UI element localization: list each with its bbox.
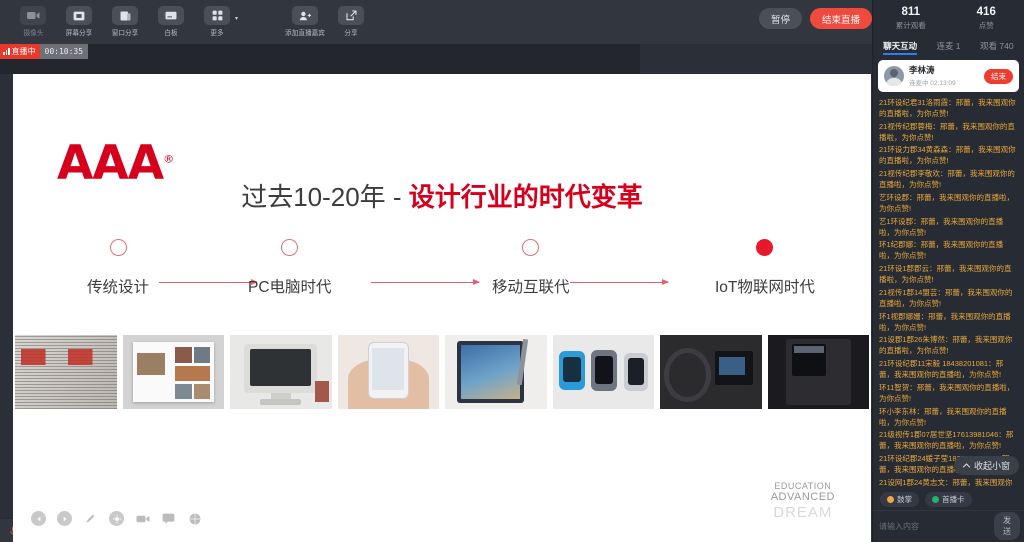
live-status-badge: 直播中 00:10:35 — [0, 44, 88, 59]
stat-total-views: 811 累计观看 — [873, 6, 949, 32]
chat-message: 21设郡1郡26朱博然：邢蕾，我来围观你的直播啦，为你点赞! — [879, 335, 1018, 357]
timeline-arrow-2 — [371, 282, 479, 283]
timeline-graphic: 传统设计 PC电脑时代 移动互联代 IoT物联网时代 — [13, 239, 871, 344]
chat-message: 21设网1郡24黄志文：邢蕾，我来围观你的直播啦，为你点赞! — [879, 478, 1018, 488]
quick-applause-button[interactable]: 鼓掌 — [880, 492, 919, 507]
thumbnail-newspapers — [15, 335, 117, 409]
live-timer: 00:10:35 — [40, 44, 89, 59]
chat-message: 21视传纪郡蓉梅：邢蕾，我来围观你的直播啦，为你点赞! — [879, 122, 1018, 144]
toolbar-left-group: 摄像头 屏幕分享 窗口分享 白板 — [10, 6, 374, 38]
comment-button[interactable] — [161, 511, 176, 526]
chat-message: 环小李东林：邢蕾，我来围观你的直播啦，为你点赞! — [879, 407, 1018, 429]
end-broadcast-button[interactable]: 结束直播 — [810, 8, 872, 29]
quick-applause-label: 鼓掌 — [897, 494, 912, 505]
chevron-down-icon[interactable]: ▾ — [235, 15, 238, 22]
chat-message: 环1纪郡娜：邢蕾，我来围观你的直播啦，为你点赞! — [879, 240, 1018, 262]
toolbar-share-button[interactable]: 分享 — [328, 6, 374, 38]
top-toolbar: 摄像头 屏幕分享 窗口分享 白板 — [0, 0, 1024, 44]
thumbnail-smartwatches — [553, 335, 655, 409]
toolbar-right-actions: 暂停 结束直播 — [759, 8, 872, 29]
chevron-up-icon — [963, 463, 970, 468]
pause-broadcast-button[interactable]: 暂停 — [759, 8, 802, 29]
stat-likes-value: 416 — [949, 6, 1024, 19]
add-guest-icon — [292, 6, 318, 25]
live-label: 直播中 — [12, 46, 36, 57]
chat-message-list[interactable]: 21环设纪君31洛雨霞：邢蕾，我来围观你的直播啦，为你点赞! 21视传纪郡蓉梅：… — [873, 96, 1024, 488]
video-button[interactable] — [135, 511, 150, 526]
quick-card-button[interactable]: 首播卡 — [925, 492, 972, 507]
camera-icon — [20, 6, 46, 25]
timeline-dot-1 — [110, 239, 127, 256]
timeline-dot-2 — [281, 239, 298, 256]
guest-card[interactable]: 李林涛 连麦中 02:13:09 结束 — [878, 60, 1019, 92]
slide-title-plain: 过去10-20年 - — [241, 182, 409, 212]
thumbnail-tablet-with-stylus — [445, 335, 547, 409]
applause-dot-icon — [887, 496, 894, 503]
toolbar-window-share-label: 窗口分享 — [112, 28, 139, 38]
watermark-line-1: EDUCATION — [771, 481, 835, 491]
stage-area: 直播中 00:10:35 AAA® 过去10-20年 - 设计行业的时代变革 传… — [0, 44, 1024, 518]
toolbar-camera-label: 摄像头 — [23, 28, 43, 38]
timeline-arrow-3 — [570, 282, 668, 283]
slide-watermark: EDUCATION ADVANCED DREAM — [771, 481, 835, 521]
live-broadcast-window: 摄像头 屏幕分享 窗口分享 白板 — [0, 0, 1024, 542]
collapse-pip-button[interactable]: 收起小窗 — [954, 456, 1019, 475]
live-indicator: 直播中 — [0, 44, 40, 59]
window-share-icon — [112, 6, 138, 25]
toolbar-add-guest-button[interactable]: 添加直播嘉宾 — [282, 6, 328, 38]
toolbar-whiteboard-label: 白板 — [164, 28, 177, 38]
shared-slide[interactable]: AAA® 过去10-20年 - 设计行业的时代变革 传统设计 PC电脑时代 — [13, 74, 871, 542]
end-guest-button[interactable]: 结束 — [984, 69, 1013, 84]
chat-message: 21环设力郡34黄森森：邢蕾，我来围观你的直播啦，为你点赞! — [879, 145, 1018, 167]
chat-message: 艺1环设郡：邢蕾，我来围观你的直播啦，为你点赞! — [879, 217, 1018, 239]
toolbar-more-button[interactable]: ▾ 更多 — [194, 6, 240, 38]
timeline-node-3: 移动互联代 — [492, 239, 570, 297]
timeline-dot-4 — [756, 239, 773, 256]
slide-title-accent: 设计行业的时代变革 — [409, 182, 643, 212]
timeline-label-4: IoT物联网时代 — [715, 275, 815, 297]
chat-message: 21视传纪郡李敬欢：邢蕾，我来围观你的直播啦，为你点赞! — [879, 169, 1018, 191]
laser-pointer-button[interactable] — [109, 511, 124, 526]
chat-message: 21环设1郡郡云：邢蕾，我来围观你的直播啦，为你点赞! — [879, 264, 1018, 286]
stat-likes-label: 点赞 — [949, 20, 1024, 31]
timeline-arrow-1 — [159, 282, 257, 283]
timeline-node-1: 传统设计 — [87, 239, 149, 297]
timeline-node-2: PC电脑时代 — [248, 239, 332, 297]
toolbar-window-share-button[interactable]: 窗口分享 — [102, 6, 148, 38]
chat-message: 21视传1郡14盟芸：邢蕾，我来围观你的直播啦，为你点赞! — [879, 288, 1018, 310]
next-slide-button[interactable] — [57, 511, 72, 526]
toolbar-screen-share-button[interactable]: 屏幕分享 — [56, 6, 102, 38]
signal-bars-icon — [3, 48, 10, 55]
collapse-pip-label: 收起小窗 — [974, 459, 1010, 472]
registered-mark: ® — [163, 152, 173, 165]
toolbar-share-label: 分享 — [344, 28, 357, 38]
thumbnail-smartphone-in-hand — [338, 335, 440, 409]
grid-more-icon — [204, 6, 230, 25]
slide-control-bar — [31, 511, 202, 526]
thumbnail-smart-refrigerator — [768, 335, 870, 409]
stat-total-views-value: 811 — [873, 6, 949, 19]
timeline-node-4: IoT物联网时代 — [715, 239, 815, 297]
tab-chat[interactable]: 聊天互动 — [877, 40, 923, 55]
thumbnail-magazine-spread — [123, 335, 225, 409]
stat-total-views-label: 累计观看 — [873, 20, 949, 31]
share-icon — [338, 6, 364, 25]
stats-row: 811 累计观看 416 点赞 — [873, 0, 1024, 37]
chat-message: 艺环设郡：邢蕾，我来围观你的直播啦，为你点赞! — [879, 193, 1018, 215]
watermark-line-2: ADVANCED — [771, 491, 835, 504]
thumbnail-crt-monitor — [230, 335, 332, 409]
stage-top-strip — [0, 44, 640, 74]
toolbar-camera-button[interactable]: 摄像头 — [10, 6, 56, 38]
thumbnail-car-interior-display — [660, 335, 762, 409]
send-button[interactable]: 发送 — [994, 512, 1020, 540]
timeline-label-1: 传统设计 — [87, 275, 149, 297]
slide-thumbnail-strip — [13, 335, 871, 409]
watermark-line-3: DREAM — [771, 504, 835, 521]
quick-reaction-row: 鼓掌 首播卡 — [873, 488, 1024, 510]
tab-viewers[interactable]: 观看 740 — [974, 40, 1020, 55]
tab-connect-mic[interactable]: 连麦 1 — [925, 40, 971, 55]
chat-message: 环11智贺：邢蕾，我来围观你的直播啦，为你点赞! — [879, 383, 1018, 405]
chat-message: 环1视郡娜姗：邢蕾，我来围观你的直播啦，为你点赞! — [879, 312, 1018, 334]
guest-name: 李林涛 — [909, 65, 956, 75]
timeline-label-2: PC电脑时代 — [248, 275, 332, 297]
guest-status: 连麦中 02:13:09 — [909, 77, 956, 87]
pen-annotate-button[interactable] — [83, 511, 98, 526]
timeline-dot-3 — [522, 239, 539, 256]
toolbar-whiteboard-button[interactable]: 白板 — [148, 6, 194, 38]
slide-title: 过去10-20年 - 设计行业的时代变革 — [13, 177, 871, 214]
toolbar-more-label: 更多 — [210, 28, 223, 38]
timeline-label-3: 移动互联代 — [492, 275, 570, 297]
avatar — [884, 66, 904, 86]
panel-tabs: 聊天互动 连麦 1 观看 740 — [873, 37, 1024, 55]
toolbar-add-guest-label: 添加直播嘉宾 — [285, 28, 325, 38]
prev-slide-button[interactable] — [31, 511, 46, 526]
screen-share-icon — [66, 6, 92, 25]
more-options-button[interactable] — [187, 511, 202, 526]
quick-card-label: 首播卡 — [942, 494, 965, 505]
guest-info: 李林涛 连麦中 02:13:09 — [909, 65, 956, 86]
toolbar-screen-share-label: 屏幕分享 — [66, 28, 93, 38]
card-dot-icon — [932, 496, 939, 503]
whiteboard-icon — [158, 6, 184, 25]
stat-likes: 416 点赞 — [949, 6, 1024, 32]
chat-message: 21环设纪郡11宋毅 18438201081：邢蕾，我来围观你的直播啦，为你点赞… — [879, 359, 1018, 381]
chat-message: 21级视传1郡07居世坚17613981046：邢蕾，我来围观你的直播啦，为你点… — [879, 430, 1018, 452]
chat-composer: 发送 — [873, 510, 1024, 542]
chat-message: 21环设纪君31洛雨霞：邢蕾，我来围观你的直播啦，为你点赞! — [879, 98, 1018, 120]
chat-input[interactable] — [879, 517, 989, 536]
